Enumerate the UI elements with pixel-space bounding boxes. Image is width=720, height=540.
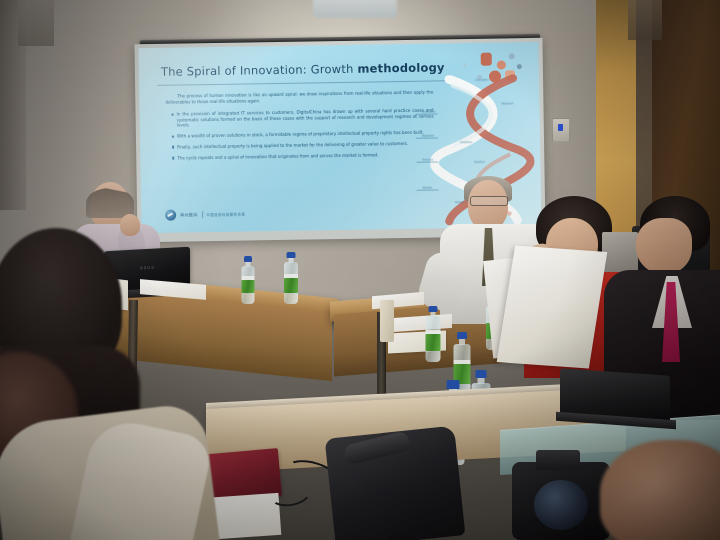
meeting-room-photo: The Spiral of Innovation: Growth methodo… <box>0 0 720 540</box>
water-bottle[interactable] <box>282 252 300 304</box>
water-bottle[interactable] <box>424 306 442 362</box>
slide-title-regular: The Spiral of Innovation: Growth <box>161 62 358 79</box>
logo-primary-text: 神州数码 <box>180 212 198 218</box>
dna-side-label: Research <box>422 134 434 138</box>
dna-side-label: Market <box>423 186 432 190</box>
slide-paragraph: The process of human innovation is like … <box>165 90 433 105</box>
laptop-right[interactable] <box>560 372 670 426</box>
dna-label: Research <box>501 102 513 105</box>
foreground-head-right <box>600 440 720 540</box>
camera-dslr[interactable] <box>512 462 610 540</box>
camera-lens-icon <box>534 480 588 530</box>
slide-title: The Spiral of Innovation: Growth methodo… <box>161 60 461 79</box>
logo-divider <box>202 211 203 218</box>
water-bottle[interactable] <box>240 256 256 304</box>
slide-bullet: With a wealth of proven solutions in sto… <box>172 129 434 139</box>
wall-panel-right <box>628 0 662 40</box>
foreground-cream-knit <box>0 352 230 540</box>
slide-body: The process of human innovation is like … <box>165 90 434 167</box>
dna-label: Innovation <box>475 79 489 82</box>
dna-label: Solutions <box>460 141 472 144</box>
head <box>600 440 720 540</box>
title-divider <box>157 80 447 86</box>
wall-socket-plate[interactable] <box>552 118 570 142</box>
socket-led-icon <box>558 124 563 131</box>
company-logo-icon <box>165 210 176 221</box>
dna-side-label: Innovation <box>422 109 436 113</box>
laptop-brand-text: ASUS <box>140 265 155 271</box>
slide-logo: 神州数码 中国信息科技服务先锋 <box>165 208 245 220</box>
glasses-icon <box>470 196 508 206</box>
papers-held <box>497 246 608 369</box>
slide-bullet-list: In the provision of integrated IT servic… <box>172 108 435 161</box>
dna-label: Practice <box>474 161 484 164</box>
projector-mount-icon <box>313 0 397 18</box>
slide-bullet: In the provision of integrated IT servic… <box>172 108 434 128</box>
camera-flash-hood <box>536 450 580 470</box>
logo-secondary-text: 中国信息科技服务先锋 <box>206 211 245 217</box>
paper-cup <box>380 300 394 342</box>
slide-bullet: The cycle repeats and a spiral of innova… <box>172 151 434 161</box>
dna-side-label: Practice <box>422 158 433 162</box>
wall-panel-left <box>18 0 54 46</box>
head <box>636 218 692 274</box>
slide-bullet: Finally, such intellectual property is b… <box>172 140 434 150</box>
